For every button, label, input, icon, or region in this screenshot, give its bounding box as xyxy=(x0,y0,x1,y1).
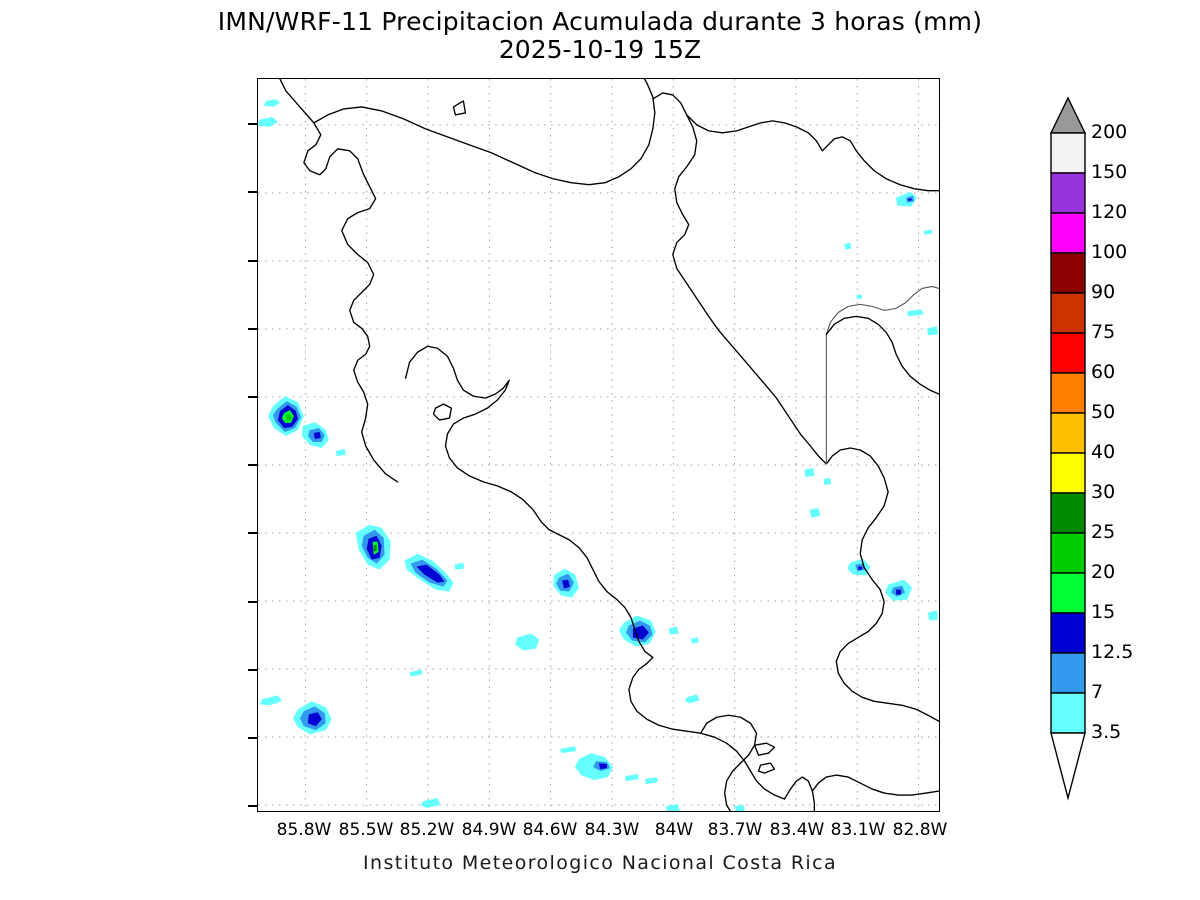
precip-cell xyxy=(421,798,441,808)
colorbar[interactable] xyxy=(1051,98,1085,798)
precip-cell xyxy=(260,695,282,705)
precip-cell xyxy=(735,805,745,811)
precip-cell xyxy=(823,478,831,485)
precip-cell xyxy=(336,449,346,456)
colorbar-label: 12.5 xyxy=(1091,643,1133,662)
precip-cell xyxy=(553,569,579,598)
precip-cell xyxy=(264,99,280,107)
precip-cell xyxy=(454,563,464,570)
precipitation-contours xyxy=(258,99,938,811)
colorbar-label: 75 xyxy=(1091,323,1115,342)
colorbar-label: 3.5 xyxy=(1091,723,1121,742)
precip-cell xyxy=(405,554,454,592)
map-gridlines xyxy=(258,79,939,811)
figure-title-block: IMN/WRF-11 Precipitacion Acumulada duran… xyxy=(0,8,1200,64)
precip-cell xyxy=(515,633,539,650)
colorbar-label: 90 xyxy=(1091,283,1115,302)
precip-cell xyxy=(666,804,680,811)
y-tick xyxy=(248,123,258,125)
colorbar-label: 150 xyxy=(1091,163,1127,182)
precip-cell xyxy=(268,396,304,436)
precip-cell xyxy=(302,422,329,448)
figure-footer: Instituto Meteorologico Nacional Costa R… xyxy=(0,852,1200,874)
precipitation-map-figure: IMN/WRF-11 Precipitacion Acumulada duran… xyxy=(0,0,1200,900)
precip-cell xyxy=(575,753,613,780)
coastline-overlay xyxy=(278,79,939,811)
colorbar-label: 200 xyxy=(1091,123,1127,142)
map-plot-area[interactable] xyxy=(257,78,940,812)
colorbar-label: 20 xyxy=(1091,563,1115,582)
precip-cell xyxy=(856,294,862,299)
colorbar-label: 15 xyxy=(1091,603,1115,622)
precip-cell xyxy=(927,326,938,335)
precip-cell xyxy=(691,637,699,643)
precip-cell xyxy=(928,611,938,621)
colorbar-over-arrow xyxy=(1051,98,1085,133)
y-tick xyxy=(248,396,258,398)
y-tick xyxy=(248,191,258,193)
colorbar-label: 7 xyxy=(1091,683,1103,702)
precip-cell xyxy=(685,694,700,703)
y-tick xyxy=(248,669,258,671)
precip-cell xyxy=(356,525,391,570)
colorbar-label: 40 xyxy=(1091,443,1115,462)
precip-cell xyxy=(669,627,679,635)
y-tick xyxy=(248,260,258,262)
precip-cell xyxy=(809,508,820,518)
page-title: IMN/WRF-11 Precipitacion Acumulada duran… xyxy=(0,8,1200,36)
precip-cell xyxy=(560,746,576,753)
y-tick xyxy=(248,805,258,807)
figure-subtitle: 2025-10-19 15Z xyxy=(0,36,1200,64)
precip-cell xyxy=(885,580,912,601)
precip-cell xyxy=(625,774,639,781)
precip-cell xyxy=(804,468,814,477)
precip-cell xyxy=(907,309,924,316)
colorbar-label: 25 xyxy=(1091,523,1115,542)
y-tick xyxy=(248,601,258,603)
y-tick xyxy=(248,737,258,739)
precip-cell xyxy=(258,117,278,127)
precip-cell xyxy=(410,669,423,676)
x-axis-label: 82.8W xyxy=(875,820,965,840)
precip-cell xyxy=(293,701,332,734)
precip-cell xyxy=(619,616,656,647)
colorbar-label: 100 xyxy=(1091,243,1127,262)
colorbar-label: 120 xyxy=(1091,203,1127,222)
colorbar-label: 30 xyxy=(1091,483,1115,502)
colorbar-under-arrow xyxy=(1051,733,1085,798)
precip-cell xyxy=(844,243,851,250)
precip-cell xyxy=(645,777,658,784)
y-tick xyxy=(248,328,258,330)
precip-cell xyxy=(896,192,917,207)
colorbar-bands xyxy=(1051,133,1085,733)
precip-cell xyxy=(847,559,870,576)
colorbar-label: 50 xyxy=(1091,403,1115,422)
y-tick xyxy=(248,532,258,534)
precip-cell xyxy=(924,230,932,235)
map-canvas xyxy=(258,79,939,811)
y-tick xyxy=(248,464,258,466)
colorbar-label: 60 xyxy=(1091,363,1115,382)
colorbar-svg xyxy=(1051,98,1085,798)
